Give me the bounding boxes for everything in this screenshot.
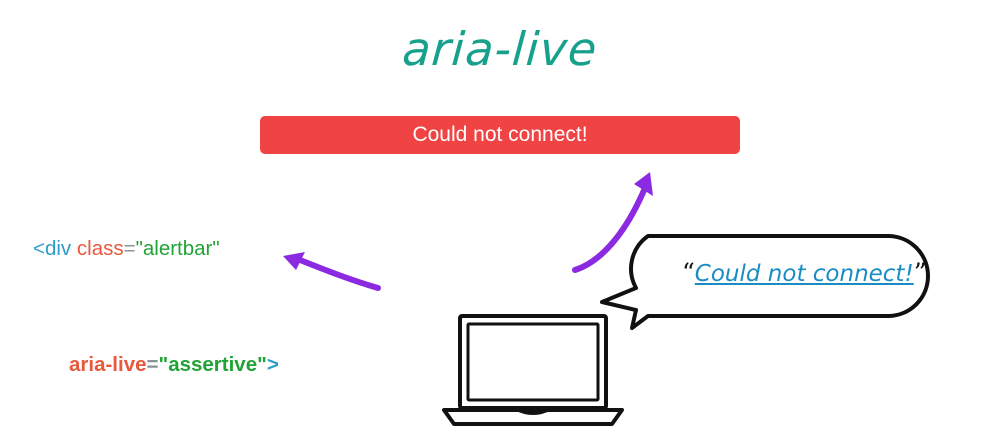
laptop-screen xyxy=(468,324,598,400)
speech-bubble-message: Could not connect! xyxy=(695,261,914,287)
arrow-to-code xyxy=(295,258,378,288)
diagram-canvas: aria-live Could not connect! <div class=… xyxy=(0,0,1000,443)
quote-close: ” xyxy=(914,258,927,287)
quote-open: “ xyxy=(682,258,695,287)
speech-bubble-text: “Could not connect!” xyxy=(682,258,926,287)
